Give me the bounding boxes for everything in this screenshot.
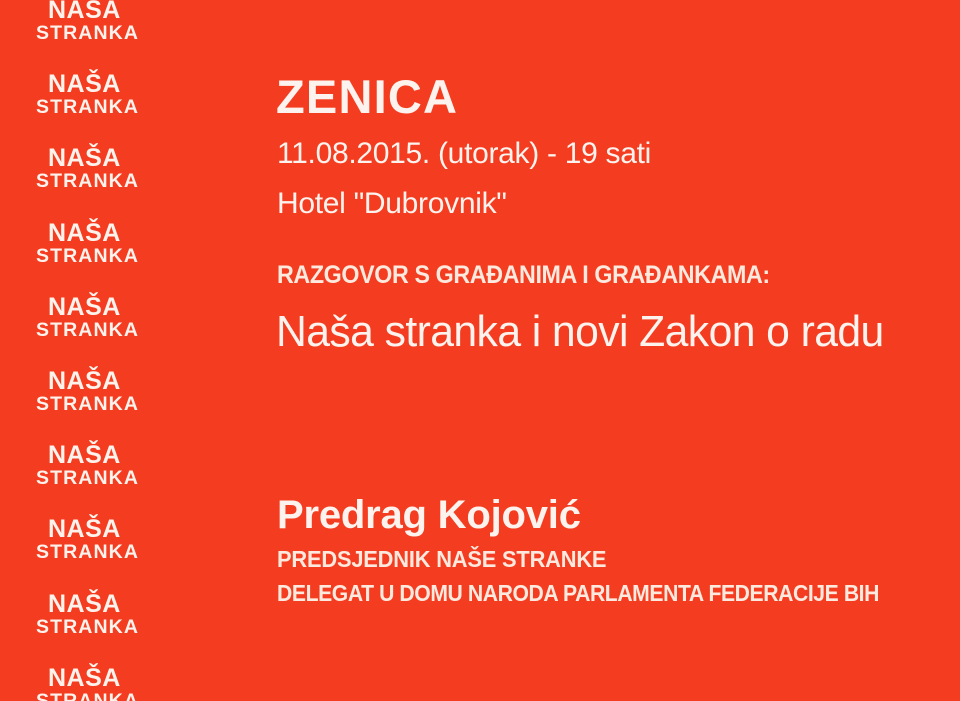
party-logo: NAŠASTRANKA xyxy=(36,295,236,341)
party-logo-line-top: NAŠA xyxy=(36,517,236,542)
party-logo-line-top: NAŠA xyxy=(36,443,236,468)
party-logo-strip: NAŠASTRANKANAŠASTRANKANAŠASTRANKANAŠASTR… xyxy=(0,0,262,701)
party-logo: NAŠASTRANKA xyxy=(36,221,236,267)
event-city-title: ZENICA xyxy=(276,72,458,122)
speaker-role-secondary: DELEGAT U DOMU NARODA PARLAMENTA FEDERAC… xyxy=(277,580,879,607)
topic-headline: Naša stranka i novi Zakon o radu xyxy=(276,306,884,358)
party-logo: NAŠASTRANKA xyxy=(36,666,236,701)
party-logo-line-bottom: STRANKA xyxy=(36,320,236,341)
speaker-name: Predrag Kojović xyxy=(277,492,581,538)
party-logo-line-bottom: STRANKA xyxy=(36,171,236,192)
party-logo: NAŠASTRANKA xyxy=(36,517,236,563)
party-logo-line-top: NAŠA xyxy=(36,146,236,171)
party-logo-line-bottom: STRANKA xyxy=(36,97,236,118)
event-datetime: 11.08.2015. (utorak) - 19 sati xyxy=(277,137,651,171)
topic-kicker: RAZGOVOR S GRAĐANIMA I GRAĐANKAMA: xyxy=(277,260,770,290)
party-logo-line-top: NAŠA xyxy=(36,592,236,617)
party-logo-line-top: NAŠA xyxy=(36,72,236,97)
party-logo-line-bottom: STRANKA xyxy=(36,542,236,563)
poster-content: ZENICA 11.08.2015. (utorak) - 19 sati Ho… xyxy=(276,0,960,701)
party-logo-line-bottom: STRANKA xyxy=(36,691,236,701)
party-logo-line-bottom: STRANKA xyxy=(36,23,236,44)
party-logo: NAŠASTRANKA xyxy=(36,592,236,638)
party-logo-line-bottom: STRANKA xyxy=(36,394,236,415)
speaker-role-primary: PREDSJEDNIK NAŠE STRANKE xyxy=(277,546,606,573)
event-venue: Hotel "Dubrovnik" xyxy=(277,187,507,221)
party-logo-line-bottom: STRANKA xyxy=(36,468,236,489)
party-logo-line-bottom: STRANKA xyxy=(36,617,236,638)
party-logo: NAŠASTRANKA xyxy=(36,0,236,44)
party-logo: NAŠASTRANKA xyxy=(36,146,236,192)
party-logo-line-top: NAŠA xyxy=(36,369,236,394)
party-logo: NAŠASTRANKA xyxy=(36,369,236,415)
party-logo: NAŠASTRANKA xyxy=(36,443,236,489)
party-logo: NAŠASTRANKA xyxy=(36,72,236,118)
party-logo-line-top: NAŠA xyxy=(36,0,236,23)
event-poster: NAŠASTRANKANAŠASTRANKANAŠASTRANKANAŠASTR… xyxy=(0,0,960,701)
party-logo-line-top: NAŠA xyxy=(36,221,236,246)
party-logo-line-bottom: STRANKA xyxy=(36,246,236,267)
party-logo-line-top: NAŠA xyxy=(36,295,236,320)
party-logo-line-top: NAŠA xyxy=(36,666,236,691)
